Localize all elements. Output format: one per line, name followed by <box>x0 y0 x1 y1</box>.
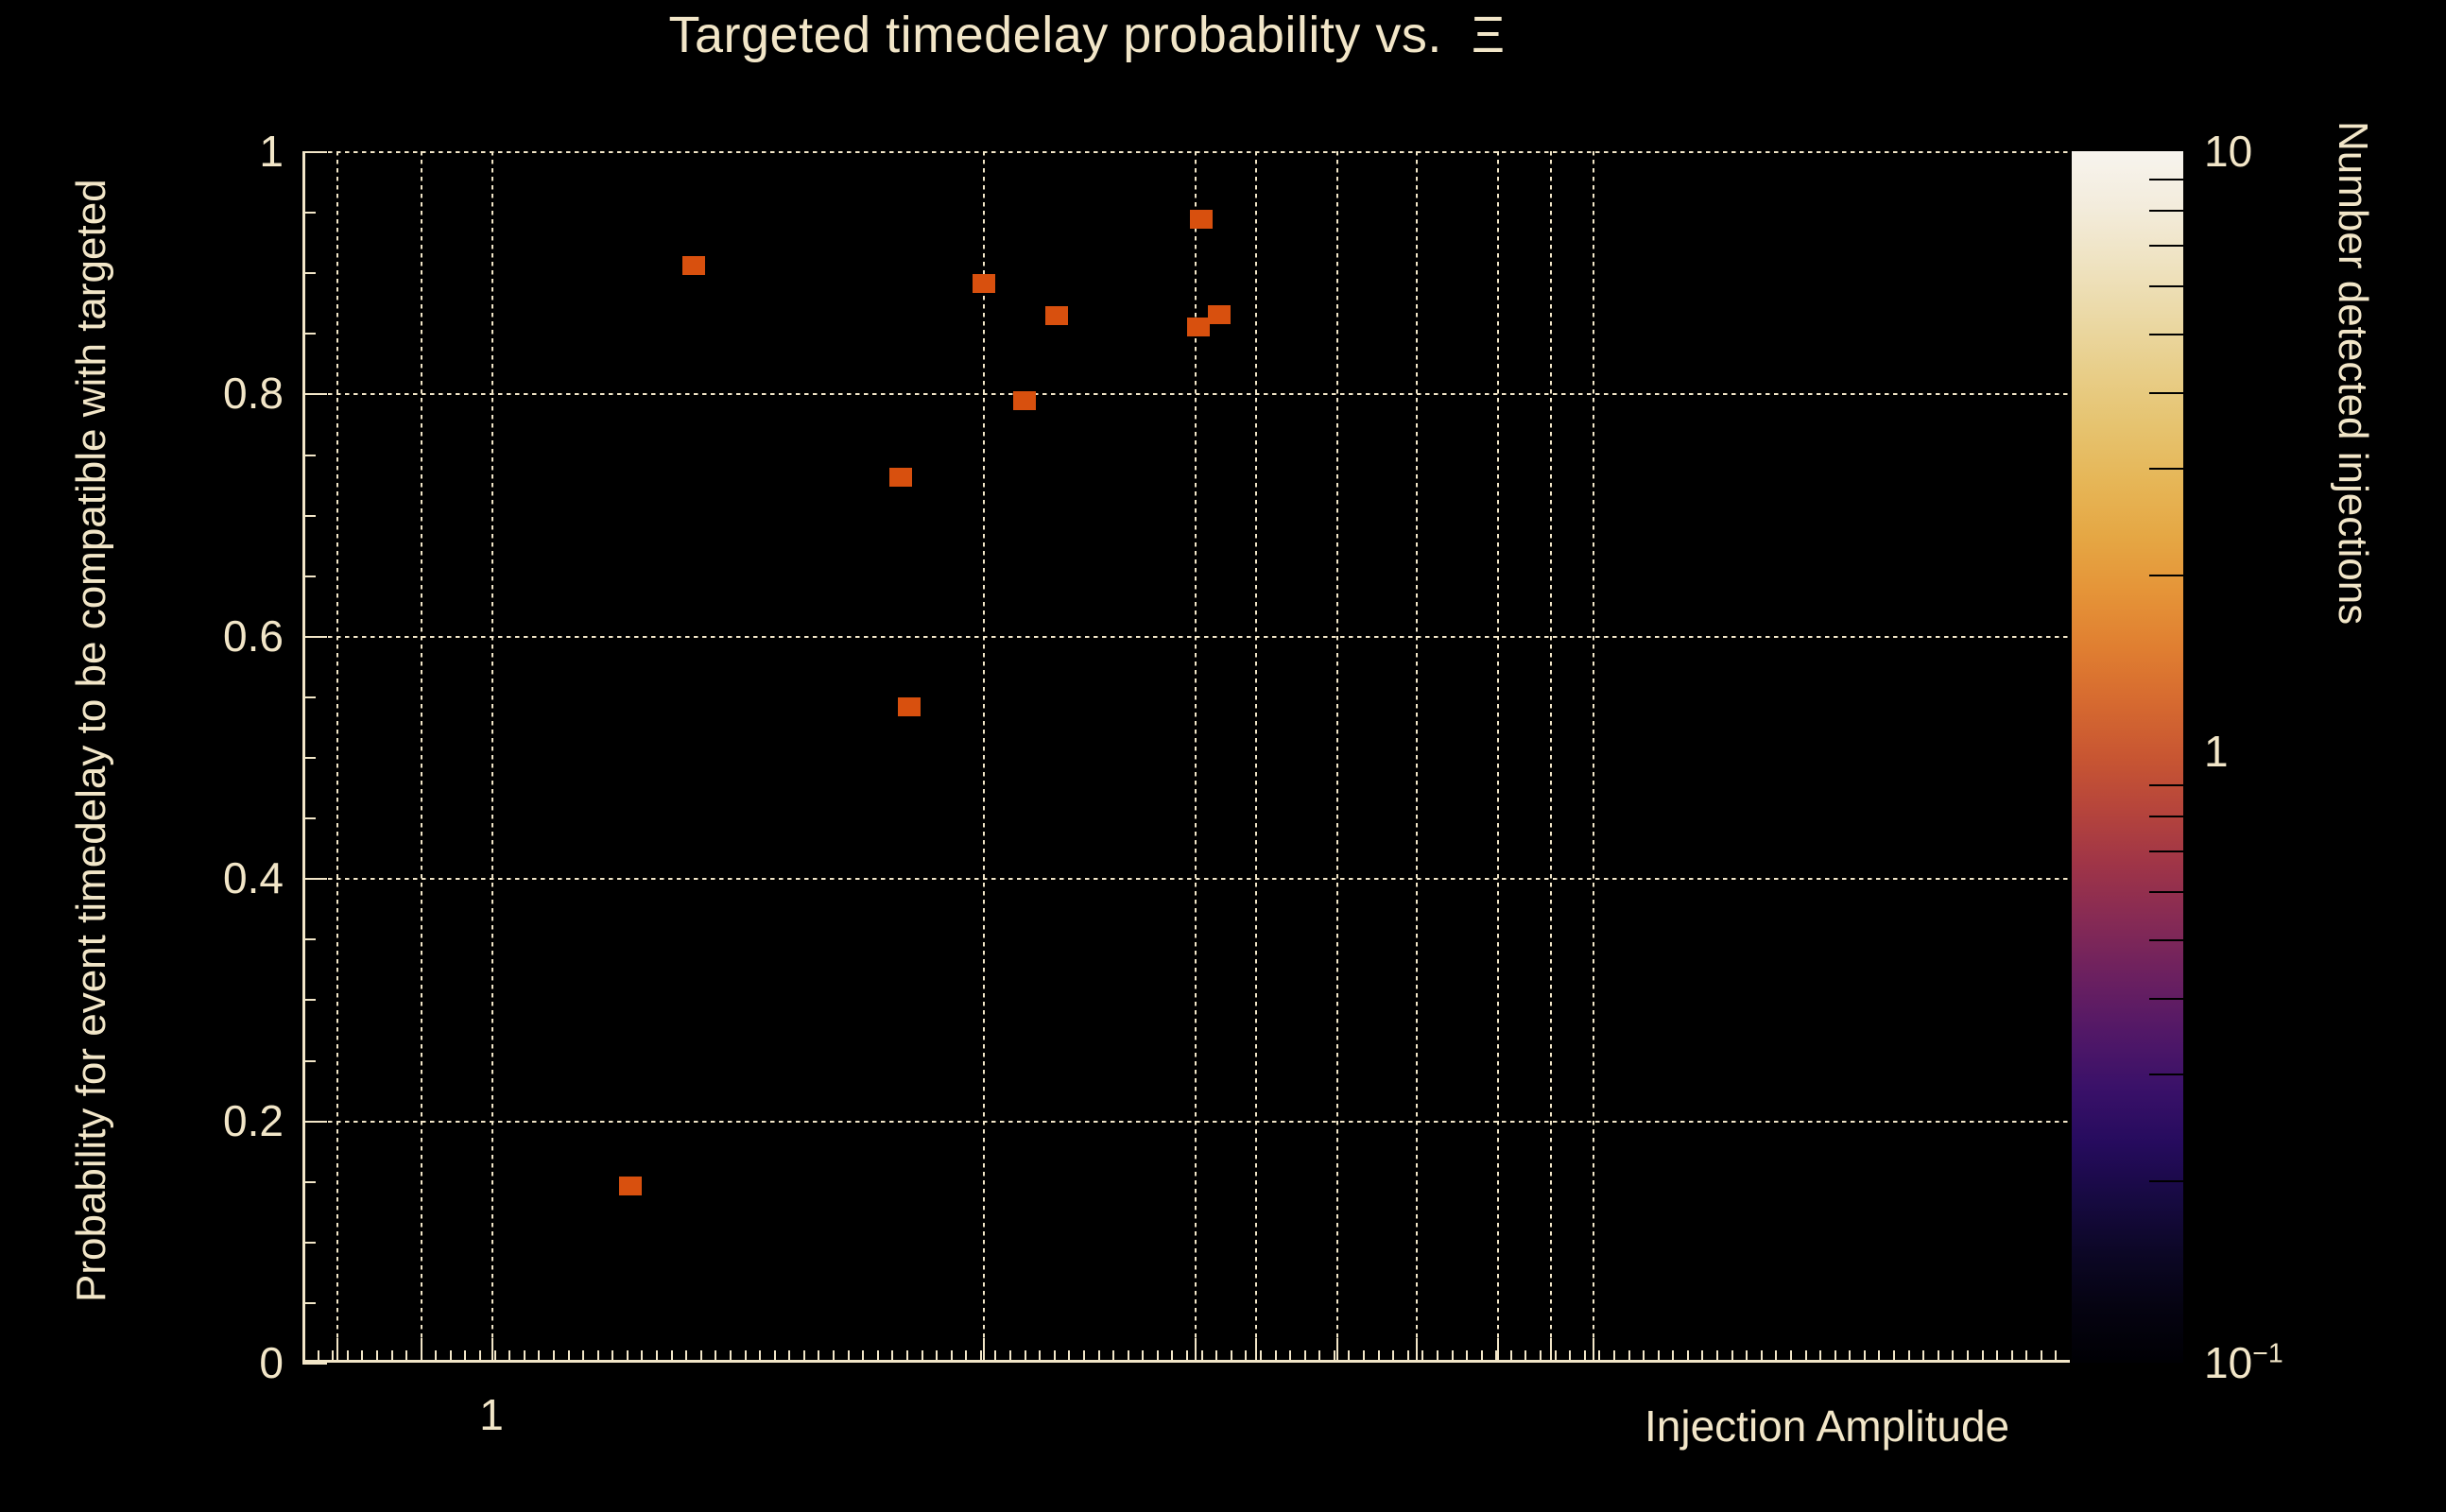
x-minor-tick <box>1672 1350 1674 1363</box>
x-minor-tick <box>1009 1350 1011 1363</box>
x-minor-tick <box>524 1350 525 1363</box>
x-minor-tick <box>435 1350 437 1363</box>
colorbar-minor-tick <box>2149 850 2183 852</box>
x-minor-tick <box>302 1350 304 1363</box>
y-axis-title: Probability for event timedelay to be co… <box>68 93 123 1302</box>
x-minor-tick <box>818 1350 819 1363</box>
x-minor-tick <box>1628 1350 1630 1363</box>
x-minor-tick <box>1864 1350 1866 1363</box>
x-minor-tick <box>1392 1350 1394 1363</box>
x-minor-tick <box>1142 1350 1144 1363</box>
x-gridline <box>336 151 338 1363</box>
x-minor-tick <box>1938 1350 1939 1363</box>
x-minor-tick <box>1761 1350 1763 1363</box>
x-gridline <box>1497 151 1499 1363</box>
x-minor-tick <box>1275 1350 1277 1363</box>
x-minor-tick <box>1407 1350 1409 1363</box>
x-minor-tick <box>1849 1350 1851 1363</box>
x-minor-tick <box>1716 1350 1718 1363</box>
y-tick-mark <box>302 1363 327 1365</box>
x-minor-tick <box>1201 1350 1203 1363</box>
y-gridline <box>302 636 2070 638</box>
x-minor-tick <box>1128 1350 1129 1363</box>
x-major-tick <box>336 1338 338 1363</box>
x-minor-tick <box>391 1350 393 1363</box>
y-gridline <box>302 1121 2070 1123</box>
x-minor-tick <box>361 1350 363 1363</box>
x-minor-tick <box>936 1350 938 1363</box>
x-minor-tick <box>1245 1350 1247 1363</box>
x-major-tick <box>1195 1338 1197 1363</box>
x-minor-tick <box>2011 1350 2013 1363</box>
x-minor-tick <box>656 1350 658 1363</box>
x-minor-tick <box>1437 1350 1438 1363</box>
x-minor-tick <box>464 1350 466 1363</box>
x-minor-tick <box>1687 1350 1689 1363</box>
x-minor-tick <box>1805 1350 1807 1363</box>
x-minor-tick <box>611 1350 613 1363</box>
x-gridline <box>1550 151 1552 1363</box>
x-minor-tick <box>730 1350 732 1363</box>
y-tick-mark <box>302 151 327 153</box>
colorbar-minor-tick <box>2149 245 2183 247</box>
x-minor-tick <box>906 1350 908 1363</box>
x-minor-tick <box>553 1350 555 1363</box>
x-minor-tick <box>848 1350 850 1363</box>
x-minor-tick <box>627 1350 629 1363</box>
x-minor-tick <box>1112 1350 1114 1363</box>
y-tick-mark <box>302 1121 327 1123</box>
x-major-tick <box>1255 1338 1257 1363</box>
x-minor-tick <box>700 1350 702 1363</box>
x-minor-tick <box>1510 1350 1512 1363</box>
colorbar-minor-tick <box>2149 575 2183 576</box>
x-minor-tick <box>479 1350 481 1363</box>
x-axis-title: Injection Amplitude <box>1645 1400 2009 1452</box>
x-minor-tick <box>1834 1350 1836 1363</box>
x-minor-tick <box>2055 1350 2057 1363</box>
x-minor-tick <box>1893 1350 1895 1363</box>
x-minor-tick <box>376 1350 378 1363</box>
x-major-tick <box>1550 1338 1552 1363</box>
x-minor-tick <box>641 1350 643 1363</box>
y-tick-mark <box>302 393 327 395</box>
colorbar-minor-tick <box>2149 285 2183 287</box>
y-minor-tick <box>302 455 316 456</box>
y-minor-tick <box>302 333 316 335</box>
colorbar-minor-tick <box>2149 998 2183 1000</box>
x-minor-tick <box>1304 1350 1306 1363</box>
x-minor-tick <box>891 1350 893 1363</box>
colorbar-title: Number detected injections <box>2323 121 2376 1236</box>
y-tick-label: 1 <box>170 126 284 177</box>
data-point-marker <box>619 1177 642 1195</box>
x-gridline <box>1255 151 1257 1363</box>
x-minor-tick <box>1658 1350 1660 1363</box>
y-gridline <box>302 151 2070 153</box>
x-gridline <box>421 151 422 1363</box>
x-minor-tick <box>1908 1350 1910 1363</box>
x-minor-tick <box>494 1350 496 1363</box>
x-minor-tick <box>1186 1350 1188 1363</box>
colorbar-minor-tick <box>2149 816 2183 817</box>
colorbar-tick-label: 1 <box>2204 726 2229 777</box>
colorbar-minor-tick <box>2149 1074 2183 1075</box>
x-minor-tick <box>1363 1350 1365 1363</box>
x-minor-tick <box>685 1350 687 1363</box>
colorbar-minor-tick <box>2149 179 2183 180</box>
x-minor-tick <box>1025 1350 1026 1363</box>
x-major-tick <box>491 1338 493 1363</box>
x-minor-tick <box>1378 1350 1380 1363</box>
data-point-marker <box>1045 306 1068 325</box>
x-minor-tick <box>1215 1350 1217 1363</box>
x-minor-tick <box>1334 1350 1335 1363</box>
x-minor-tick <box>1598 1350 1600 1363</box>
x-minor-tick <box>1701 1350 1703 1363</box>
y-minor-tick <box>302 272 316 274</box>
colorbar-minor-tick <box>2149 392 2183 394</box>
data-point-marker <box>889 468 912 487</box>
x-minor-tick <box>597 1350 599 1363</box>
x-minor-tick <box>774 1350 776 1363</box>
x-minor-tick <box>922 1350 923 1363</box>
colorbar-minor-tick <box>2149 784 2183 786</box>
x-minor-tick <box>582 1350 584 1363</box>
x-major-tick <box>1593 1338 1594 1363</box>
y-minor-tick <box>302 1302 316 1304</box>
x-minor-tick <box>2041 1350 2042 1363</box>
y-tick-label: 0.4 <box>170 852 284 903</box>
colorbar-minor-tick <box>2149 468 2183 470</box>
x-minor-tick <box>568 1350 570 1363</box>
x-minor-tick <box>1613 1350 1615 1363</box>
x-minor-tick <box>862 1350 864 1363</box>
x-minor-tick <box>1083 1350 1085 1363</box>
x-minor-tick <box>1421 1350 1423 1363</box>
x-minor-tick <box>1775 1350 1777 1363</box>
colorbar-minor-tick <box>2149 334 2183 335</box>
x-minor-tick <box>1289 1350 1291 1363</box>
x-minor-tick <box>1996 1350 1998 1363</box>
colorbar-tick-label: 10−1 <box>2204 1337 2283 1388</box>
y-minor-tick <box>302 212 316 214</box>
x-minor-tick <box>2025 1350 2027 1363</box>
x-minor-tick <box>1318 1350 1320 1363</box>
x-minor-tick <box>1922 1350 1924 1363</box>
x-minor-tick <box>332 1350 334 1363</box>
y-tick-label: 0.2 <box>170 1095 284 1146</box>
x-minor-tick <box>1982 1350 1984 1363</box>
x-minor-tick <box>1466 1350 1468 1363</box>
y-tick-mark <box>302 878 327 880</box>
x-minor-tick <box>405 1350 407 1363</box>
figure-root: Targeted timedelay probability vs. Ξ Pro… <box>0 0 2446 1512</box>
x-gridline <box>1416 151 1418 1363</box>
x-minor-tick <box>965 1350 967 1363</box>
x-minor-tick <box>803 1350 805 1363</box>
data-point-marker <box>1208 305 1231 324</box>
x-minor-tick <box>538 1350 540 1363</box>
x-minor-tick <box>1452 1350 1454 1363</box>
x-minor-tick <box>980 1350 982 1363</box>
x-minor-tick <box>994 1350 996 1363</box>
data-point-marker <box>1013 391 1036 410</box>
y-minor-tick <box>302 696 316 698</box>
x-major-tick <box>1336 1338 1338 1363</box>
data-point-marker <box>1190 210 1213 229</box>
y-minor-tick <box>302 1060 316 1062</box>
x-minor-tick <box>1790 1350 1792 1363</box>
x-minor-tick <box>318 1350 319 1363</box>
x-gridline <box>983 151 985 1363</box>
colorbar-tick-label: 10 <box>2204 126 2252 177</box>
y-gridline <box>302 393 2070 395</box>
x-minor-tick <box>1054 1350 1056 1363</box>
colorbar-minor-tick <box>2149 210 2183 212</box>
x-minor-tick <box>1039 1350 1041 1363</box>
x-minor-tick <box>671 1350 673 1363</box>
x-tick-label: 1 <box>479 1389 504 1440</box>
x-minor-tick <box>1555 1350 1557 1363</box>
x-minor-tick <box>1584 1350 1586 1363</box>
x-minor-tick <box>1819 1350 1821 1363</box>
x-minor-tick <box>450 1350 452 1363</box>
y-minor-tick <box>302 938 316 940</box>
chart-title: Targeted timedelay probability vs. Ξ <box>0 6 2174 64</box>
colorbar-minor-tick <box>2149 1180 2183 1182</box>
x-minor-tick <box>1731 1350 1733 1363</box>
x-minor-tick <box>1481 1350 1483 1363</box>
data-point-marker <box>973 274 995 293</box>
x-minor-tick <box>759 1350 761 1363</box>
x-minor-tick <box>1952 1350 1954 1363</box>
x-minor-tick <box>1878 1350 1880 1363</box>
x-minor-tick <box>1157 1350 1159 1363</box>
x-minor-tick <box>715 1350 716 1363</box>
y-minor-tick <box>302 576 316 577</box>
x-minor-tick <box>1524 1350 1526 1363</box>
x-minor-tick <box>1540 1350 1542 1363</box>
x-minor-tick <box>1068 1350 1070 1363</box>
x-minor-tick <box>1260 1350 1262 1363</box>
x-major-tick <box>983 1338 985 1363</box>
colorbar-minor-tick <box>2149 891 2183 893</box>
x-minor-tick <box>877 1350 879 1363</box>
x-minor-tick <box>833 1350 835 1363</box>
x-minor-tick <box>1348 1350 1350 1363</box>
y-minor-tick <box>302 817 316 819</box>
x-minor-tick <box>1967 1350 1969 1363</box>
y-minor-tick <box>302 515 316 517</box>
data-point-marker <box>682 256 705 275</box>
x-minor-tick <box>951 1350 953 1363</box>
x-major-tick <box>421 1338 422 1363</box>
x-minor-tick <box>1231 1350 1232 1363</box>
plot-area <box>302 151 2070 1363</box>
y-gridline <box>302 878 2070 880</box>
y-minor-tick <box>302 1181 316 1183</box>
colorbar-minor-tick <box>2149 939 2183 941</box>
y-tick-label: 0.6 <box>170 610 284 661</box>
x-major-tick <box>1416 1338 1418 1363</box>
x-gridline <box>1593 151 1594 1363</box>
data-point-marker <box>898 697 921 716</box>
x-minor-tick <box>1643 1350 1645 1363</box>
y-minor-tick <box>302 999 316 1001</box>
y-minor-tick <box>302 757 316 759</box>
x-minor-tick <box>1569 1350 1571 1363</box>
y-tick-label: 0.8 <box>170 368 284 419</box>
x-minor-tick <box>1746 1350 1748 1363</box>
y-tick-label: 0 <box>170 1337 284 1388</box>
x-major-tick <box>1497 1338 1499 1363</box>
x-minor-tick <box>1098 1350 1100 1363</box>
x-minor-tick <box>508 1350 510 1363</box>
y-minor-tick <box>302 1242 316 1244</box>
x-gridline <box>1336 151 1338 1363</box>
x-minor-tick <box>745 1350 747 1363</box>
y-tick-mark <box>302 636 327 638</box>
x-minor-tick <box>347 1350 349 1363</box>
x-minor-tick <box>788 1350 790 1363</box>
x-minor-tick <box>1171 1350 1173 1363</box>
x-gridline <box>491 151 493 1363</box>
